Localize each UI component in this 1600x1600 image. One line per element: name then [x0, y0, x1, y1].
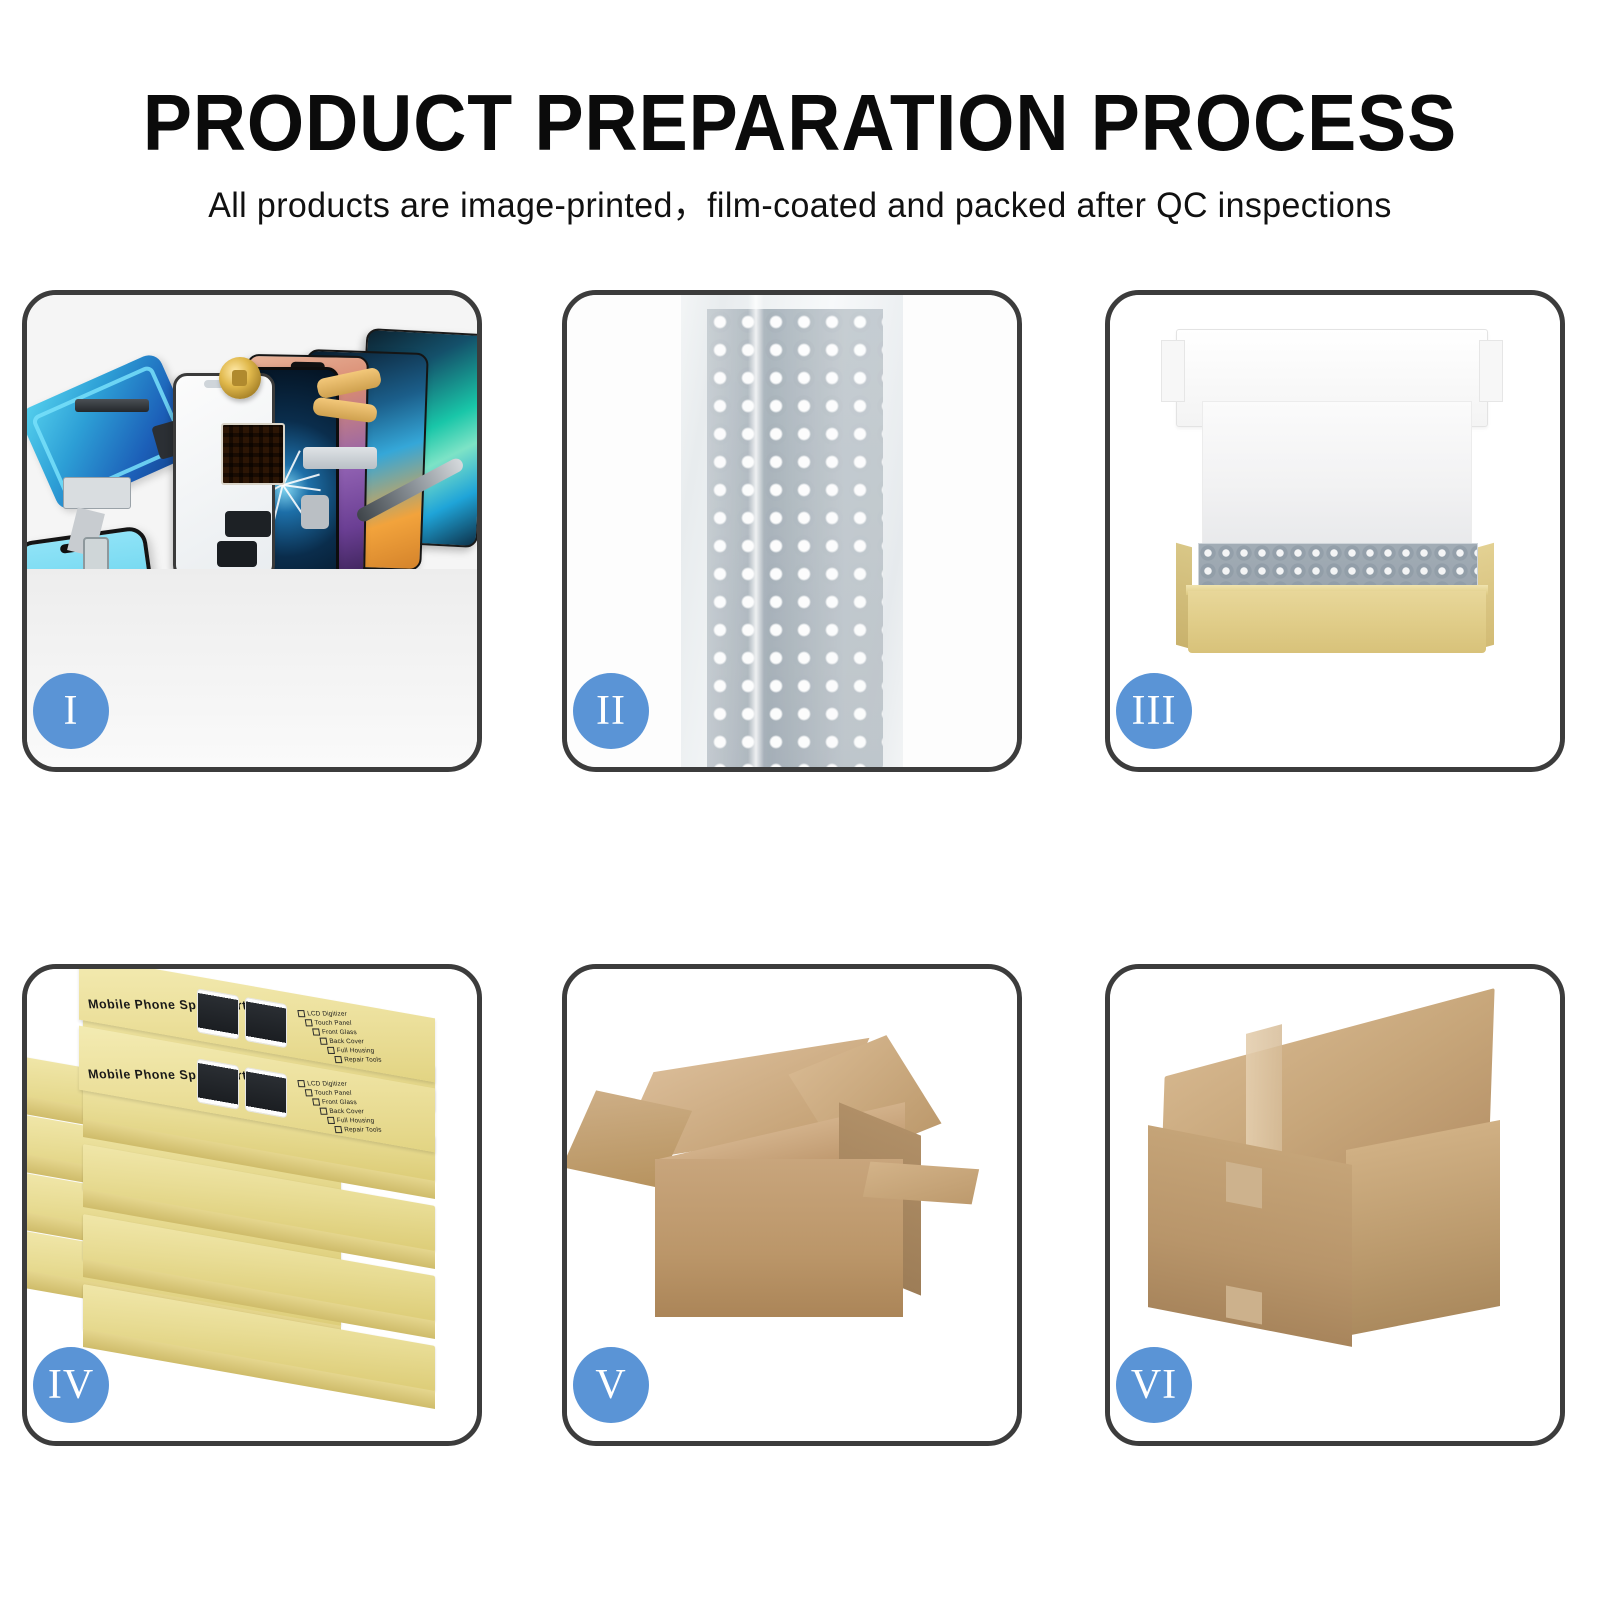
retail-box-product-photos-2	[197, 988, 289, 1046]
infographic-page: PRODUCT PREPARATION PROCESS All products…	[0, 0, 1600, 1600]
process-step-grid: I II	[0, 288, 1600, 1528]
checklist-item: Repair Tools	[344, 1056, 382, 1063]
bubble-wrapped-product	[681, 295, 903, 767]
foam-insert	[1202, 401, 1472, 553]
retail-box-product-photos	[197, 1058, 289, 1116]
wireless-charging-coil-part	[219, 357, 261, 399]
button-flex-part	[303, 447, 377, 469]
ic-chip-part	[221, 423, 285, 485]
bubble-film-texture	[707, 309, 883, 767]
step-panel-5: V	[562, 964, 1022, 1446]
step-panel-1: I	[22, 290, 482, 772]
retail-box-checklist-back: LCD Digitizer Touch Panel Front Glass Ba…	[297, 1010, 444, 1068]
step-badge-4: IV	[33, 1347, 109, 1423]
checklist-item: Back Cover	[329, 1108, 365, 1115]
step-panel-4: Mobile Phone Spare Parts LCD Digitizer T…	[22, 964, 482, 1446]
carton-flap-front	[863, 1162, 979, 1205]
small-chip-part	[217, 541, 257, 567]
camera-module-part	[301, 495, 329, 529]
back-housing-part	[276, 612, 461, 767]
checklist-item: Repair Tools	[344, 1126, 382, 1133]
film-sheen	[748, 295, 764, 767]
sim-tray-part	[83, 537, 109, 581]
checklist-item: Touch Panel	[314, 1090, 352, 1097]
step-panel-3: III	[1105, 290, 1565, 772]
checklist-item: Back Cover	[329, 1038, 365, 1045]
checklist-item: Full Housing	[336, 1047, 375, 1054]
checklist-item: Touch Panel	[314, 1020, 352, 1027]
retail-box-checklist-front: LCD Digitizer Touch Panel Front Glass Ba…	[297, 1080, 444, 1138]
screws-part	[445, 716, 466, 744]
checklist-item: LCD Digitizer	[307, 1080, 348, 1087]
step-badge-6: VI	[1116, 1347, 1192, 1423]
flex-cable-part	[63, 477, 131, 509]
packing-tape-front-lower	[1226, 1286, 1262, 1325]
step-badge-1: I	[33, 673, 109, 749]
header: PRODUCT PREPARATION PROCESS All products…	[0, 0, 1600, 228]
box-front-panel	[1188, 591, 1486, 653]
step-panel-2: II	[562, 290, 1022, 772]
earpiece-speaker-part	[75, 399, 149, 412]
page-title: PRODUCT PREPARATION PROCESS	[64, 78, 1536, 168]
checklist-item: LCD Digitizer	[307, 1010, 348, 1017]
sealed-carton-side	[1346, 1120, 1500, 1336]
packing-tape-front-upper	[1226, 1162, 1262, 1209]
loudspeaker-part	[225, 511, 271, 537]
checklist-item: Front Glass	[322, 1029, 358, 1036]
checklist-item: Full Housing	[336, 1117, 375, 1124]
page-subtitle: All products are image-printed，film-coat…	[24, 184, 1576, 228]
step-badge-3: III	[1116, 673, 1192, 749]
step-badge-2: II	[573, 673, 649, 749]
step-badge-5: V	[573, 1347, 649, 1423]
step-panel-6: VI	[1105, 964, 1565, 1446]
checklist-item: Front Glass	[322, 1099, 358, 1106]
